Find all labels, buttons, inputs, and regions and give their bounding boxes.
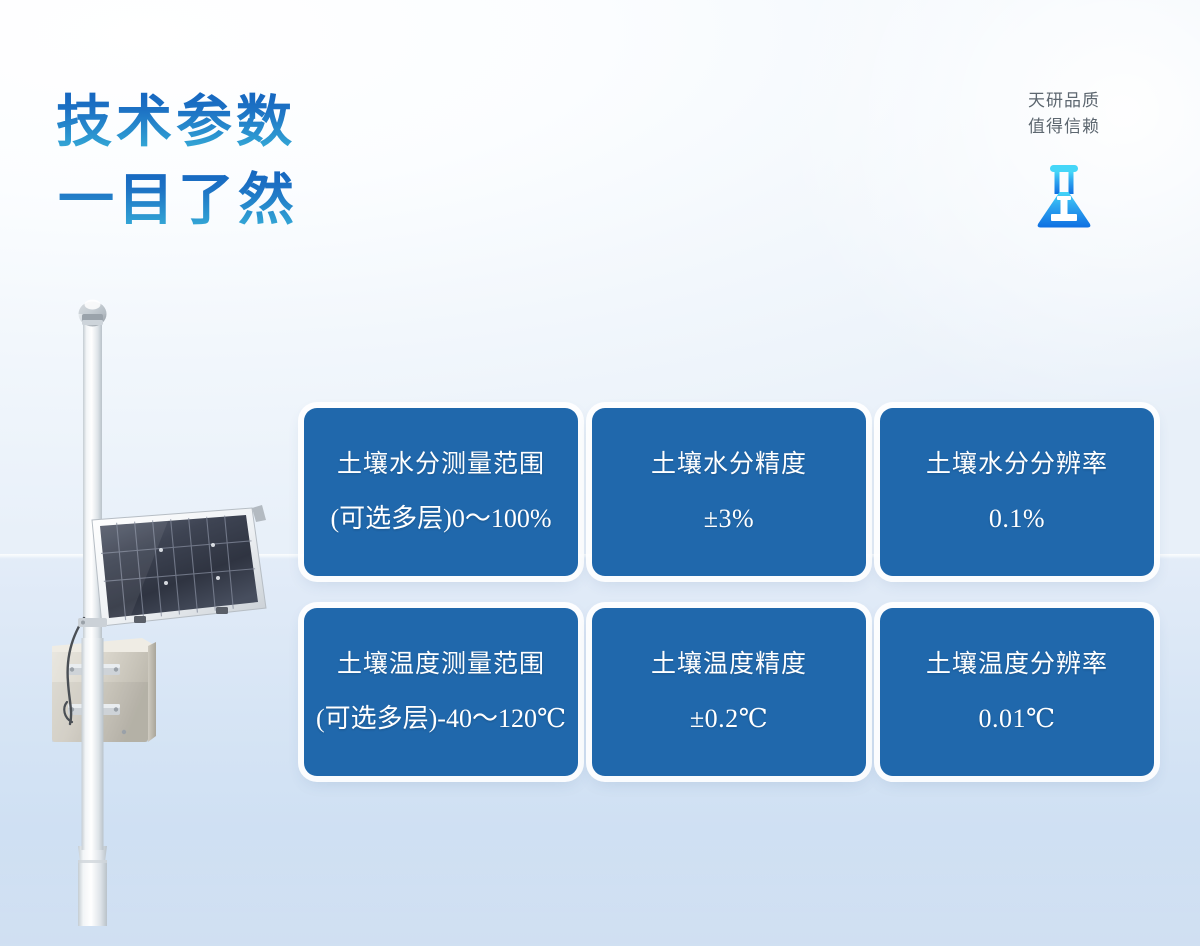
spec-value: ±3%	[704, 502, 754, 536]
spec-label: 土壤温度精度	[651, 648, 807, 682]
spec-value: (可选多层)-40～120℃	[316, 702, 566, 736]
dome-sensor	[79, 300, 107, 327]
spec-value: ±0.2℃	[690, 702, 768, 736]
spec-card-soil-temperature-accuracy[interactable]: 土壤温度精度 ±0.2℃	[592, 608, 866, 776]
brand-slogan-line-1: 天研品质	[984, 88, 1144, 114]
spec-card-soil-moisture-range[interactable]: 土壤水分测量范围 (可选多层)0～100%	[304, 408, 578, 576]
spec-label: 土壤水分精度	[651, 448, 807, 482]
tech-spec-banner: 技术参数 一目了然 天研品质 值得信赖	[0, 0, 1200, 946]
pole-front-segment	[82, 638, 104, 850]
spec-card-soil-moisture-accuracy[interactable]: 土壤水分精度 ±3%	[592, 408, 866, 576]
spec-card-soil-moisture-resolution[interactable]: 土壤水分分辨率 0.1%	[880, 408, 1154, 576]
brand-block: 天研品质 值得信赖	[984, 88, 1144, 230]
brand-slogan-line-2: 值得信赖	[984, 114, 1144, 140]
page-title-line-1: 技术参数	[56, 84, 298, 162]
flask-icon	[984, 162, 1144, 230]
spec-label: 土壤水分测量范围	[337, 448, 545, 482]
spec-card-grid: 土壤水分测量范围 (可选多层)0～100% 土壤水分精度 ±3% 土壤水分分辨率…	[304, 408, 1168, 776]
spec-value: 0.01℃	[978, 702, 1055, 736]
solar-panel	[92, 505, 266, 626]
control-box	[52, 618, 156, 742]
spec-label: 土壤温度分辨率	[926, 648, 1108, 682]
spec-label: 土壤温度测量范围	[337, 648, 545, 682]
spec-value: (可选多层)0～100%	[331, 502, 552, 536]
spec-label: 土壤水分分辨率	[926, 448, 1108, 482]
product-image	[38, 286, 278, 926]
spec-card-soil-temperature-range[interactable]: 土壤温度测量范围 (可选多层)-40～120℃	[304, 608, 578, 776]
spec-card-soil-temperature-resolution[interactable]: 土壤温度分辨率 0.01℃	[880, 608, 1154, 776]
page-title-line-2: 一目了然	[58, 162, 298, 240]
spec-value: 0.1%	[989, 502, 1045, 536]
page-title: 技术参数 一目了然	[56, 84, 298, 240]
